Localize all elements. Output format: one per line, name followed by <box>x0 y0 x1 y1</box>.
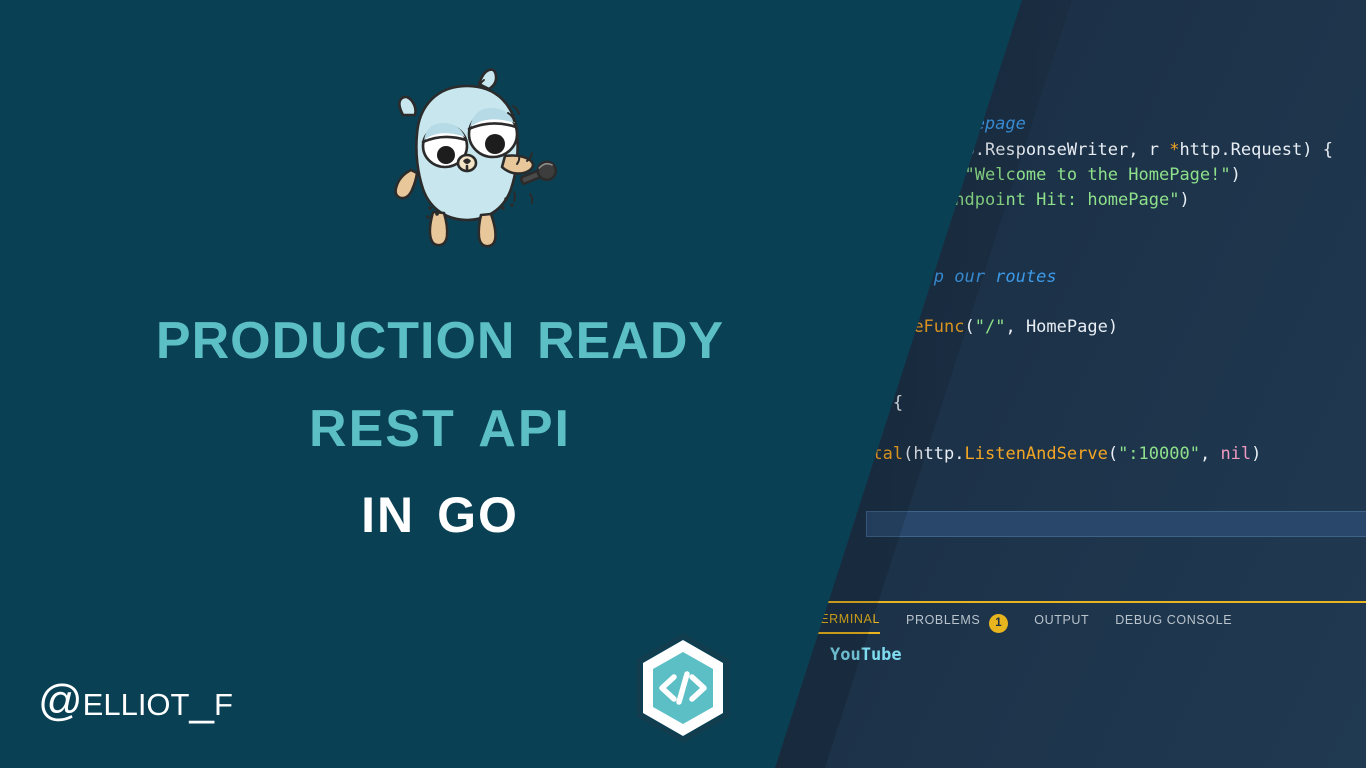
code-token: "net/http" <box>770 38 872 58</box>
terminal-prompt-bullet <box>794 651 799 656</box>
editor-current-line-highlight <box>866 511 1366 537</box>
problems-count-badge: 1 <box>989 614 1008 633</box>
panel-tab-label[interactable]: OUTPUT <box>1034 613 1089 633</box>
code-line: // HomePage our homepage <box>770 112 1366 137</box>
code-token: , HomePage) <box>1005 317 1118 337</box>
code-token: * <box>1169 140 1179 160</box>
title-line-3: In Go <box>0 472 880 544</box>
panel-tab-output[interactable]: OUTPUT <box>1034 613 1089 633</box>
panel-tab-problems[interactable]: PROBLEMS1 <box>906 613 1008 633</box>
code-token: // HomePage our homepage <box>770 114 1026 134</box>
code-line <box>770 87 1366 112</box>
panel-tab-bar: TERMINALPROBLEMS1OUTPUTDEBUG CONSOLE <box>812 612 1232 634</box>
slide-canvas: "net/http" // HomePage our homepagefunc … <box>0 0 1366 768</box>
terminal-output-line: YouTube <box>830 645 902 665</box>
terminal-output: YouTube <box>770 637 1366 768</box>
code-token: fmt. <box>811 190 852 210</box>
code-token: // Setup sets up our routes <box>770 267 1057 287</box>
code-token: , <box>1200 444 1220 464</box>
code-token: nil <box>1220 444 1251 464</box>
code-line <box>770 239 1366 264</box>
panel-tab-label[interactable]: PROBLEMS <box>906 613 980 633</box>
go-gopher-mascot-icon <box>367 62 567 262</box>
code-token: ListenAndServe <box>965 444 1108 464</box>
code-line <box>770 61 1366 86</box>
author-handle: @Elliot_F <box>38 676 233 726</box>
code-token: http.Request) { <box>1179 140 1333 160</box>
editor-bottom-panel: TERMINALPROBLEMS1OUTPUTDEBUG CONSOLE You… <box>770 601 1366 768</box>
code-token: ( <box>1108 444 1118 464</box>
code-token: ( <box>924 190 934 210</box>
code-token: HomePage <box>821 140 903 160</box>
code-line: // Setup sets up our routes <box>770 265 1366 290</box>
code-token: fmt. <box>811 165 852 185</box>
code-line: func HomePage(w http.ResponseWriter, r *… <box>770 138 1366 163</box>
code-line: fmt.Println("Endpoint Hit: homePage") <box>770 188 1366 213</box>
code-token: Fprintf <box>852 165 924 185</box>
code-token: func <box>770 140 821 160</box>
code-token: (w, <box>924 165 965 185</box>
code-token: (w http.ResponseWriter, r <box>903 140 1169 160</box>
title-block: Production Ready REST API In Go <box>0 296 880 544</box>
code-token: Println <box>852 190 924 210</box>
code-token: ) <box>1251 444 1261 464</box>
panel-tab-label[interactable]: DEBUG CONSOLE <box>1115 613 1232 633</box>
panel-tab-label[interactable]: TERMINAL <box>812 612 880 634</box>
code-token: "Endpoint Hit: homePage" <box>934 190 1180 210</box>
code-line: "net/http" <box>770 36 1366 61</box>
code-token: "Welcome to the HomePage!" <box>965 165 1231 185</box>
code-token: ":10000" <box>1118 444 1200 464</box>
code-token: ) <box>1231 165 1241 185</box>
code-hexagon-logo <box>634 633 732 743</box>
code-token: ( <box>965 317 975 337</box>
code-token: "/" <box>975 317 1006 337</box>
panel-tab-terminal[interactable]: TERMINAL <box>812 612 880 634</box>
code-token: ) <box>1179 190 1189 210</box>
title-line-1: Production Ready <box>0 296 880 370</box>
code-line <box>770 214 1366 239</box>
code-line: fmt.Fprintf(w, "Welcome to the HomePage!… <box>770 163 1366 188</box>
title-line-2: REST API <box>0 384 880 458</box>
panel-tab-debug-console[interactable]: DEBUG CONSOLE <box>1115 613 1232 633</box>
code-token: (http. <box>903 444 964 464</box>
